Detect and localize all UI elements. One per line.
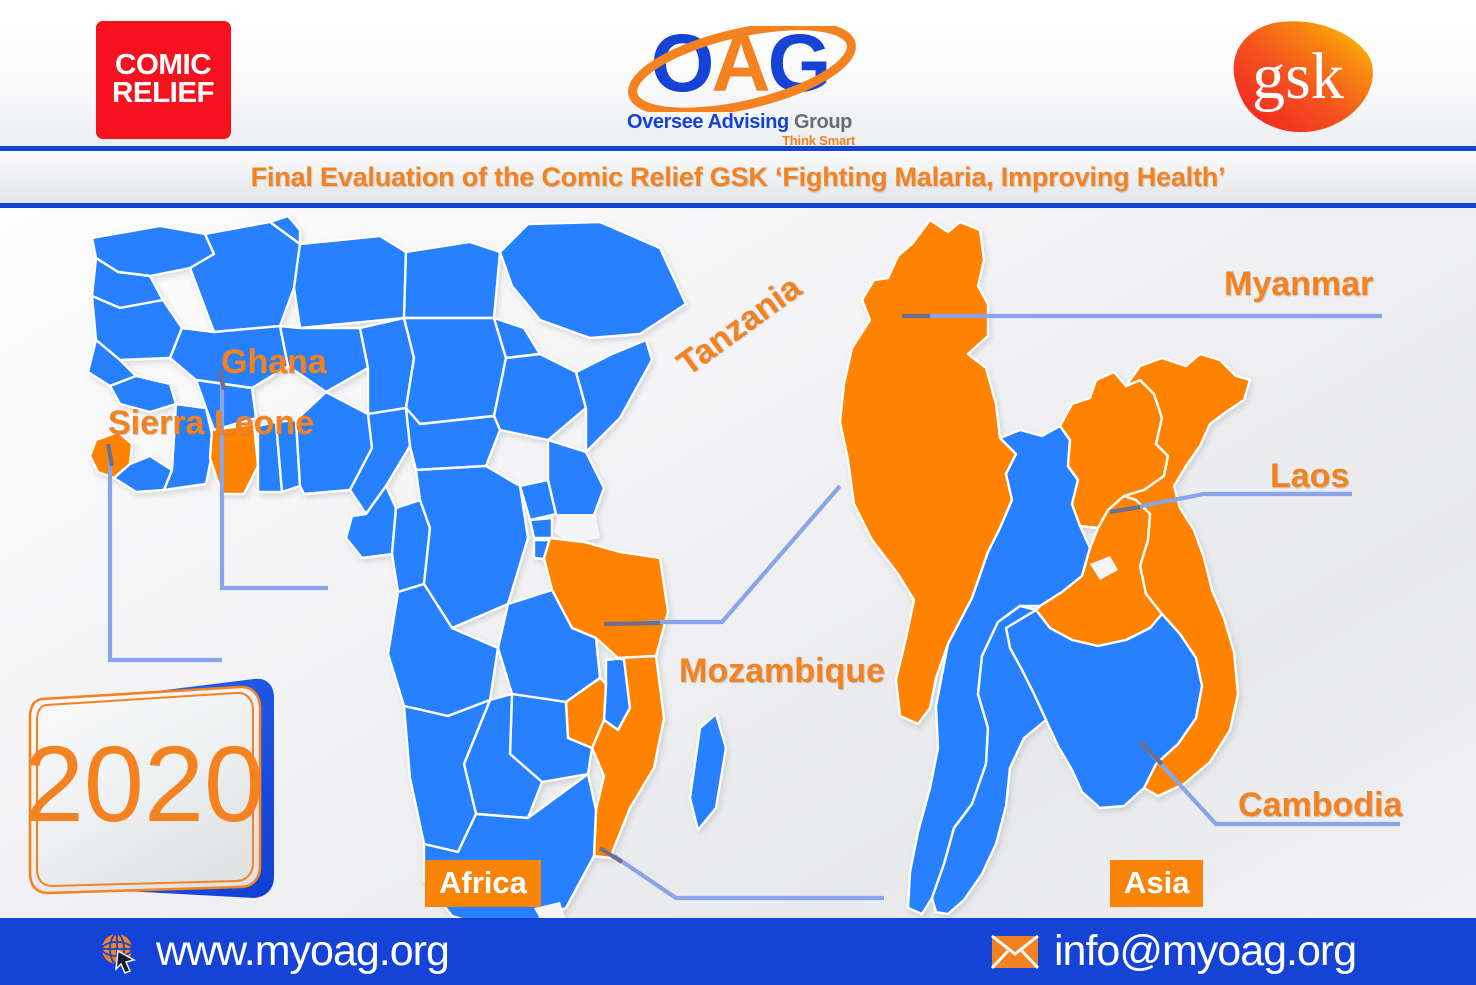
oag-tagline-blue: Oversee Advising <box>627 111 789 133</box>
comic-relief-logo-box: COMIC RELIEF <box>96 21 231 139</box>
envelope-icon <box>990 933 1040 971</box>
year-badge-text: 2020 <box>24 723 264 844</box>
oag-letter-g: G <box>768 18 829 109</box>
callout-mozambique: Mozambique <box>679 652 885 691</box>
oag-tagline-primary: Oversee Advising Group <box>612 111 867 134</box>
callout-cambodia: Cambodia <box>1238 786 1402 825</box>
continent-badge-asia: Asia <box>1110 860 1203 907</box>
title-band: Final Evaluation of the Comic Relief GSK… <box>0 146 1476 208</box>
callout-laos: Laos <box>1270 457 1349 496</box>
callout-ghana: Ghana <box>221 343 327 382</box>
callout-cambodia-label: Cambodia <box>1238 786 1402 824</box>
continent-badge-asia-label: Asia <box>1124 865 1189 900</box>
comic-relief-logo[interactable]: COMIC RELIEF <box>96 21 231 139</box>
comic-relief-line-1: COMIC <box>115 52 211 80</box>
email-link[interactable]: info@myoag.org <box>990 927 1356 976</box>
oag-tagline-gray: Group <box>794 111 852 133</box>
callout-myanmar: Myanmar <box>1224 265 1373 304</box>
gsk-logo-blob-icon: gsk <box>1218 16 1378 138</box>
year-badge-graphic: 2020 <box>22 665 284 910</box>
email-text: info@myoag.org <box>1054 927 1356 976</box>
oag-letter-a: A <box>711 18 767 109</box>
continent-badge-africa: Africa <box>425 860 541 907</box>
infographic-poster: COMIC RELIEF OAG Oversee Advising Group … <box>0 0 1476 985</box>
oag-logo[interactable]: OAG Oversee Advising Group Think Smart <box>612 16 867 144</box>
footer-bar: www.myoag.org info@myoag.org <box>0 918 1476 985</box>
oag-letter-o: O <box>651 18 712 109</box>
page-title: Final Evaluation of the Comic Relief GSK… <box>251 162 1226 193</box>
callout-mozambique-label: Mozambique <box>679 652 885 690</box>
year-badge: 2020 <box>22 665 284 910</box>
callout-myanmar-label: Myanmar <box>1224 265 1373 303</box>
callout-sierra-leone-label: Sierra Leone <box>108 404 314 442</box>
callout-ghana-label: Ghana <box>221 343 327 381</box>
svg-text:gsk: gsk <box>1252 40 1344 113</box>
website-link[interactable]: www.myoag.org <box>96 927 449 976</box>
globe-cursor-icon <box>96 929 142 975</box>
southeast-asia-landmass <box>840 220 1250 914</box>
callout-laos-label: Laos <box>1270 457 1349 495</box>
callout-sierra-leone: Sierra Leone <box>108 404 314 443</box>
arabia-landmass <box>500 222 686 338</box>
continent-badge-africa-label: Africa <box>439 865 527 900</box>
oag-logo-letters: OAG <box>612 16 867 112</box>
gsk-logo[interactable]: gsk <box>1218 16 1378 138</box>
website-text: www.myoag.org <box>156 927 449 976</box>
header-bar: COMIC RELIEF OAG Oversee Advising Group … <box>0 0 1476 146</box>
comic-relief-line-2: RELIEF <box>112 80 214 108</box>
